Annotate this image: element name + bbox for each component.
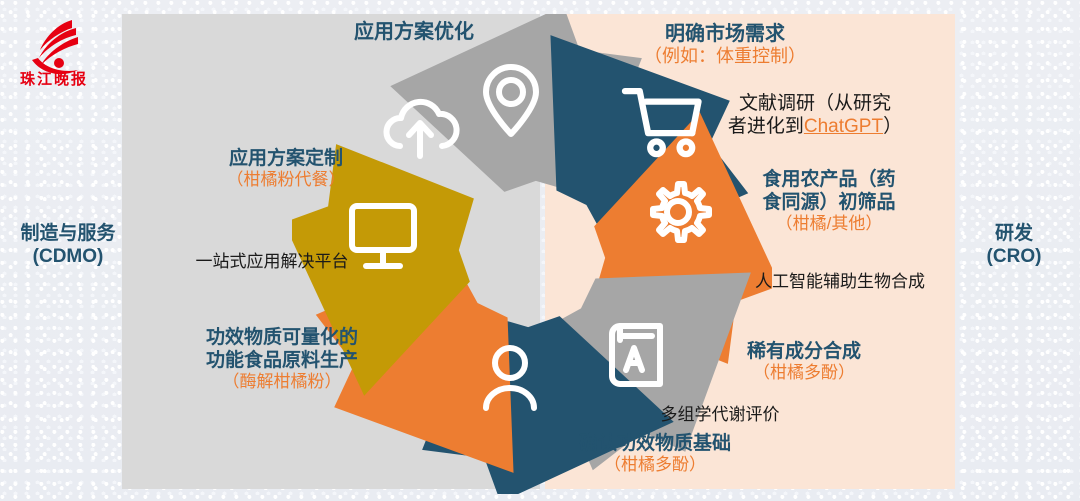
agri-screen-title-2: 食同源）初筛品 [718,191,940,214]
brand-logo: 珠江晚报 [12,16,108,88]
app-optimize-title: 应用方案优化 [302,20,526,44]
cro-abbr: (CRO) [950,245,1078,268]
raw-material-sub: （酶解柑橘粉） [148,372,416,393]
market-demand-title: 明确市场需求 [580,22,870,46]
rare-synth-sub: （柑橘多酚） [688,363,920,384]
ai-bio-text: 人工智能辅助生物合成 [720,272,960,293]
efficacy-title: 确认功效物质基础 [530,432,780,455]
platform-text: 一站式应用解决平台 [152,252,392,273]
market-demand-sub: （例如：体重控制） [580,46,870,68]
side-label-cdmo: 制造与服务 (CDMO) [2,222,134,268]
side-label-cro: 研发 (CRO) [950,222,1078,268]
logo-wordmark: 珠江晚报 [20,70,88,88]
label-efficacy-basis: 确认功效物质基础 （柑橘多酚） [530,432,780,476]
label-literature-research: 文献调研（从研究 者进化到ChatGPT） [690,92,940,138]
raw-material-title-1: 功效物质可量化的 [148,326,416,349]
agri-screen-sub: （柑橘/其他） [718,214,940,235]
slide-canvas: 珠江晚报 [0,0,1080,501]
chatgpt-link[interactable]: ChatGPT [804,116,883,137]
app-custom-title: 应用方案定制 [162,147,410,170]
label-omics-evaluation: 多组学代谢评价 [620,405,820,426]
rare-synth-title: 稀有成分合成 [688,340,920,363]
literature-line-1: 文献调研（从研究 [690,92,940,115]
label-rare-synthesis: 稀有成分合成 （柑橘多酚） [688,340,920,384]
agri-screen-title-1: 食用农产品（药 [718,168,940,191]
app-custom-sub: （柑橘粉代餐） [162,170,410,191]
label-ai-biosynthesis: 人工智能辅助生物合成 [720,272,960,293]
label-agri-screening: 食用农产品（药 食同源）初筛品 （柑橘/其他） [718,168,940,235]
label-platform: 一站式应用解决平台 [152,252,392,273]
raw-material-title-2: 功能食品原料生产 [148,349,416,372]
label-raw-material: 功效物质可量化的 功能食品原料生产 （酶解柑橘粉） [148,326,416,393]
omics-text: 多组学代谢评价 [620,405,820,426]
cdmo-abbr: (CDMO) [2,245,134,268]
label-app-optimize: 应用方案优化 [302,20,526,44]
literature-post: ） [883,116,902,137]
label-app-custom: 应用方案定制 （柑橘粉代餐） [162,147,410,191]
logo-dot-icon [54,58,64,68]
literature-pre: 者进化到 [728,116,804,137]
literature-line-2: 者进化到ChatGPT） [690,115,940,138]
efficacy-sub: （柑橘多酚） [530,455,780,476]
label-market-demand: 明确市场需求 （例如：体重控制） [580,22,870,68]
cro-title: 研发 [950,222,1078,245]
cdmo-title: 制造与服务 [2,222,134,245]
